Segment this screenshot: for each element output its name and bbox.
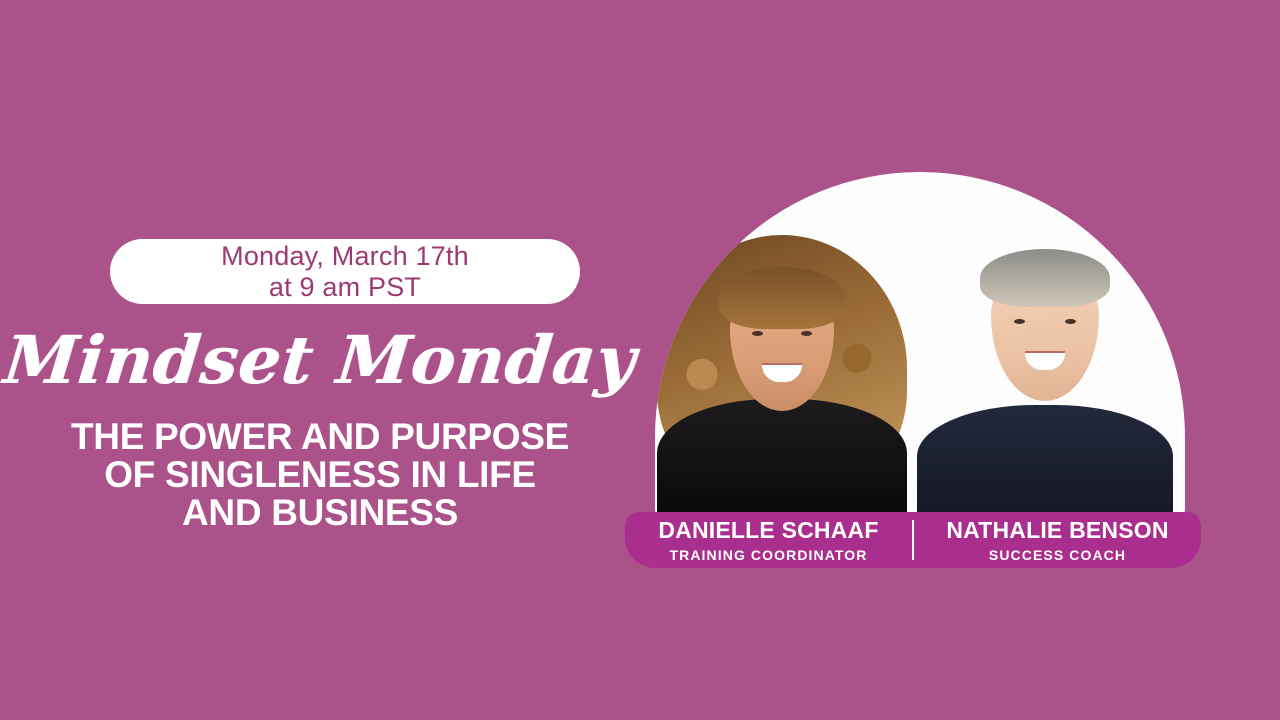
speaker-role: SUCCESS COACH	[914, 548, 1201, 562]
speaker-entry-danielle: DANIELLE SCHAAF TRAINING COORDINATOR	[625, 519, 912, 562]
headline-line-3: AND BUSINESS	[20, 494, 620, 532]
date-pill: Monday, March 17th at 9 am PST	[110, 239, 580, 304]
eye-right	[801, 331, 812, 336]
left-text-column: Monday, March 17th at 9 am PST Mindset M…	[0, 0, 640, 720]
date-line-primary: Monday, March 17th	[221, 241, 469, 272]
speaker-name: NATHALIE BENSON	[914, 519, 1201, 542]
speaker-role: TRAINING COORDINATOR	[625, 548, 912, 562]
speaker-name-banner: DANIELLE SCHAAF TRAINING COORDINATOR NAT…	[625, 512, 1201, 568]
eye-right	[1065, 319, 1076, 324]
bangs-shape	[980, 249, 1110, 307]
headline-line-1: THE POWER AND PURPOSE	[20, 418, 620, 456]
date-line-secondary: at 9 am PST	[269, 272, 421, 303]
speaker-photo-block: DANIELLE SCHAAF TRAINING COORDINATOR NAT…	[625, 172, 1201, 568]
eye-left	[752, 331, 763, 336]
bangs-shape	[719, 267, 845, 329]
series-title: Mindset Monday	[0, 316, 645, 404]
speaker-name: DANIELLE SCHAAF	[625, 519, 912, 542]
smile-shape	[762, 365, 802, 382]
headline-block: THE POWER AND PURPOSE OF SINGLENESS IN L…	[20, 418, 620, 532]
speaker-photo-nathalie	[895, 205, 1185, 517]
speaker-photo-danielle	[655, 217, 927, 517]
headline-line-2: OF SINGLENESS IN LIFE	[20, 456, 620, 494]
speaker-entry-nathalie: NATHALIE BENSON SUCCESS COACH	[914, 519, 1201, 562]
torso-shape	[917, 405, 1173, 517]
eye-left	[1014, 319, 1025, 324]
promo-poster: Monday, March 17th at 9 am PST Mindset M…	[0, 0, 1280, 720]
torso-shape	[657, 399, 907, 517]
smile-shape	[1025, 353, 1065, 370]
photo-arch	[655, 172, 1185, 517]
